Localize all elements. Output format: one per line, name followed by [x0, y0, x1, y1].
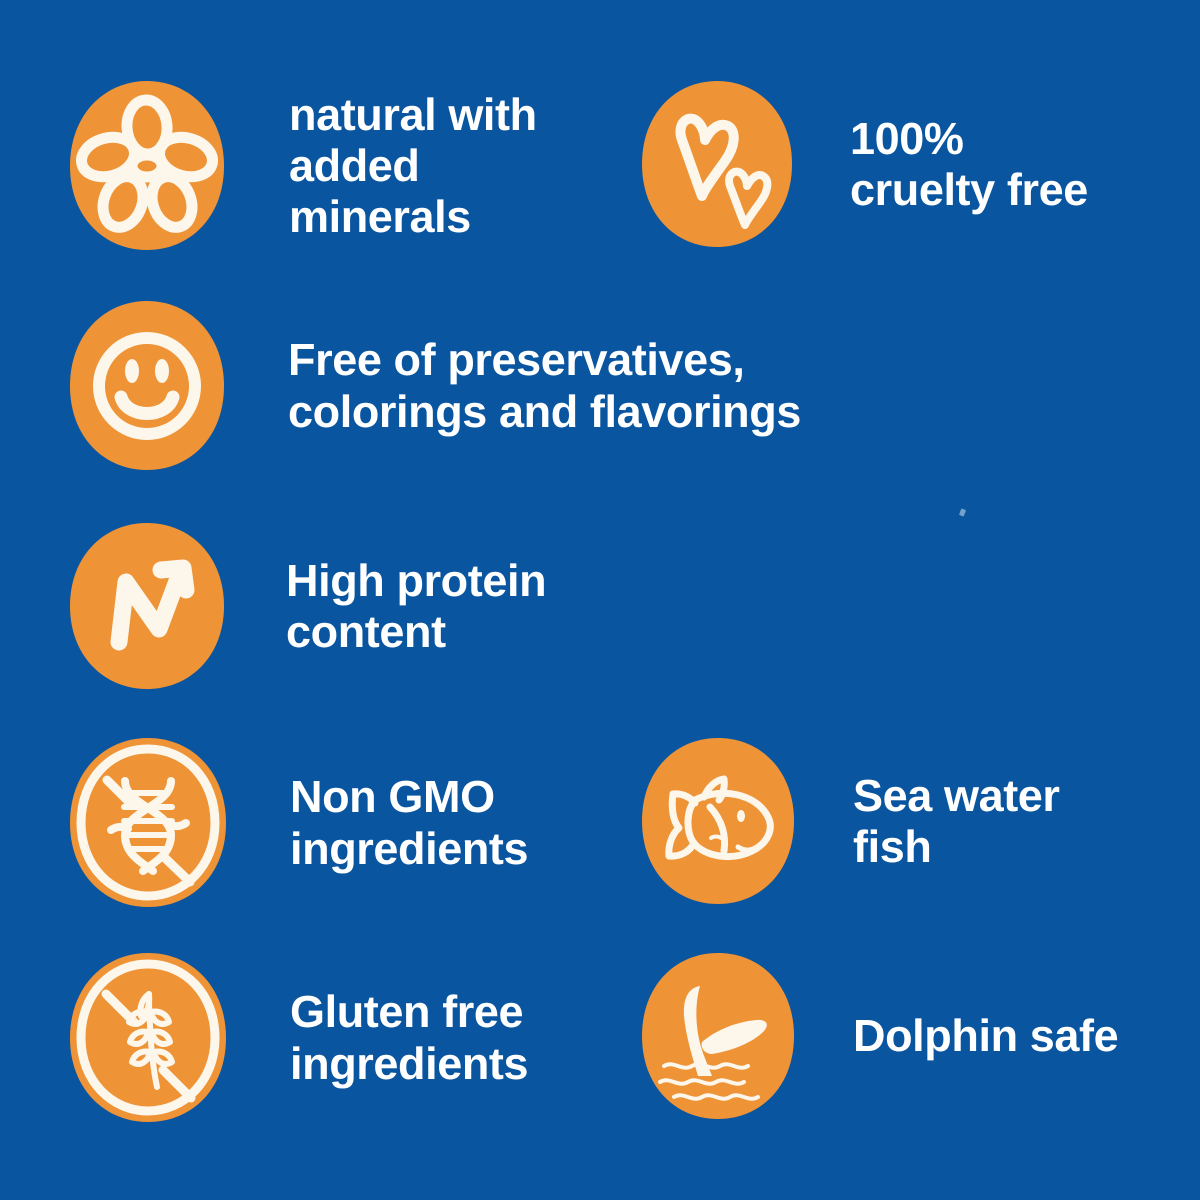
smiley-face-icon [68, 298, 226, 473]
feature-label: Dolphin safe [853, 1010, 1118, 1061]
feature-label: Sea water fish [853, 770, 1060, 873]
feature-free-of-preservatives: Free of preservatives, colorings and fla… [68, 298, 801, 473]
feature-label: Gluten free ingredients [290, 986, 528, 1089]
feature-gluten-free-ingredients: Gluten free ingredients [68, 950, 528, 1125]
feature-non-gmo-ingredients: Non GMO ingredients [68, 735, 528, 910]
feature-dolphin-safe: Dolphin safe [640, 950, 1118, 1122]
feature-label: Free of preservatives, colorings and fla… [288, 334, 801, 437]
flower-icon [68, 78, 226, 253]
upward-zigzag-arrow-icon [68, 520, 226, 692]
feature-label: 100% cruelty free [850, 113, 1088, 216]
feature-label: natural with added minerals [289, 89, 537, 243]
fish-icon [640, 735, 796, 907]
feature-natural-with-added-minerals: natural with added minerals [68, 78, 537, 253]
no-wheat-icon [68, 950, 228, 1125]
product-benefits-panel: natural with added minerals 100% cruelty… [0, 0, 1200, 1200]
no-dna-icon [68, 735, 228, 910]
feature-high-protein-content: High protein content [68, 520, 546, 692]
image-artifact-speck [959, 508, 966, 516]
whale-tail-icon [640, 950, 796, 1122]
feature-sea-water-fish: Sea water fish [640, 735, 1060, 907]
feature-label: High protein content [286, 555, 546, 658]
feature-cruelty-free: 100% cruelty free [640, 78, 1088, 250]
two-hearts-icon [640, 78, 794, 250]
feature-label: Non GMO ingredients [290, 771, 528, 874]
